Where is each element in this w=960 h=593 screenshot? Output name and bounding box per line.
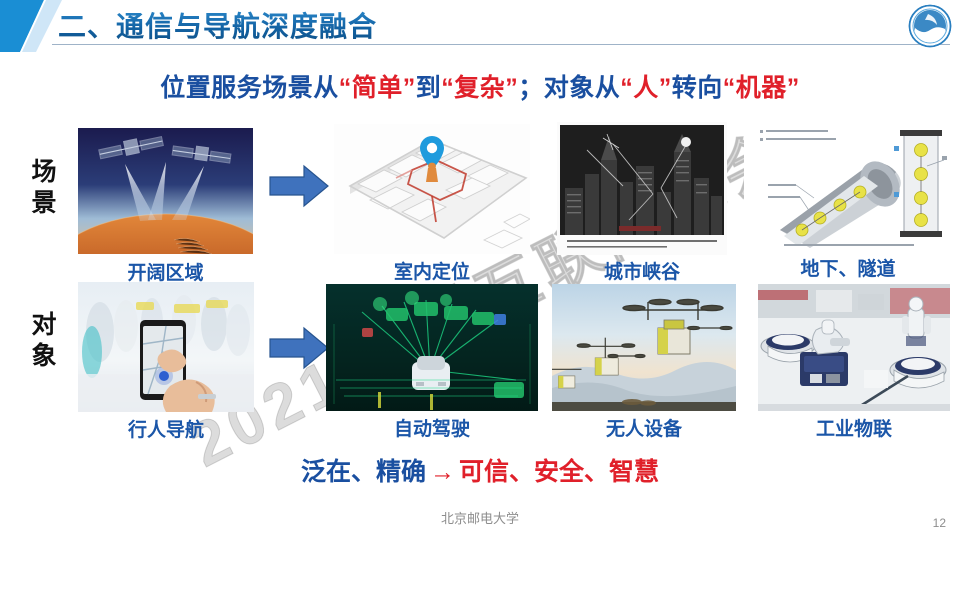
cell-underground-tunnel: 地下、隧道	[744, 118, 952, 283]
slide-header: 二、通信与导航深度融合	[0, 0, 960, 52]
row-label-object: 对 象	[18, 310, 70, 371]
footer-organization: 北京邮电大学	[0, 508, 960, 527]
caption-autonomous-driving: 自动驾驶	[326, 414, 538, 441]
pedestrian-phone-map-image	[78, 282, 254, 412]
conclusion-left: 泛在、精确	[301, 458, 426, 486]
row-object-arrow	[268, 325, 330, 371]
satellites-over-earth-image	[78, 128, 253, 254]
cell-open-area: 开阔区域	[78, 128, 253, 283]
delivery-drones-image	[552, 284, 736, 411]
indoor-floorplan-image	[334, 124, 530, 254]
caption-indoor-positioning: 室内定位	[334, 257, 530, 284]
row-label-scene-char-2: 景	[18, 188, 70, 219]
page-title: 二、通信与导航深度融合	[58, 5, 377, 45]
caption-open-area: 开阔区域	[78, 258, 253, 285]
conclusion-line: 泛在、精确→可信、安全、智慧	[0, 452, 960, 488]
heading-segment-7: 转向	[672, 74, 723, 102]
caption-underground-tunnel: 地下、隧道	[744, 254, 952, 281]
autonomous-driving-image	[326, 284, 538, 411]
heading-segment-4: “复杂”	[441, 74, 518, 102]
bupt-logo-icon	[908, 4, 952, 48]
caption-pedestrian-navigation: 行人导航	[78, 415, 254, 442]
row-scene-arrow	[268, 163, 330, 209]
heading-segment-6: “人”	[620, 74, 672, 102]
urban-canyon-image	[557, 122, 727, 255]
cell-autonomous-driving: 自动驾驶	[326, 284, 538, 442]
row-label-object-char-2: 象	[18, 341, 70, 372]
main-heading: 位置服务场景从“简单”到“复杂”；对象从“人”转向“机器”	[0, 68, 960, 104]
heading-segment-5: ；对象从	[518, 74, 620, 102]
caption-industrial-iot: 工业物联	[758, 414, 950, 441]
row-label-scene-char-1: 场	[18, 157, 70, 188]
cell-pedestrian-navigation: 行人导航	[78, 282, 254, 442]
caption-unmanned-equipment: 无人设备	[552, 414, 736, 441]
cell-urban-canyon: 城市峡谷	[557, 122, 727, 282]
cell-indoor-positioning: 室内定位	[334, 124, 530, 284]
page-number: 12	[933, 516, 946, 530]
conclusion-arrow-icon: →	[426, 458, 459, 486]
cell-unmanned-equipment: 无人设备	[552, 284, 736, 442]
cell-industrial-iot: 工业物联	[758, 284, 950, 442]
tunnel-diagram-image	[744, 118, 952, 256]
heading-segment-8: “机器”	[723, 74, 800, 102]
heading-segment-2: “简单”	[339, 74, 416, 102]
row-label-scene: 场 景	[18, 157, 70, 218]
caption-urban-canyon: 城市峡谷	[557, 257, 727, 284]
conclusion-right: 可信、安全、智慧	[459, 458, 659, 486]
heading-segment-3: 到	[416, 74, 442, 102]
industrial-robots-image	[758, 284, 950, 411]
row-label-object-char-1: 对	[18, 310, 70, 341]
heading-segment-1: 位置服务场景从	[160, 74, 339, 102]
